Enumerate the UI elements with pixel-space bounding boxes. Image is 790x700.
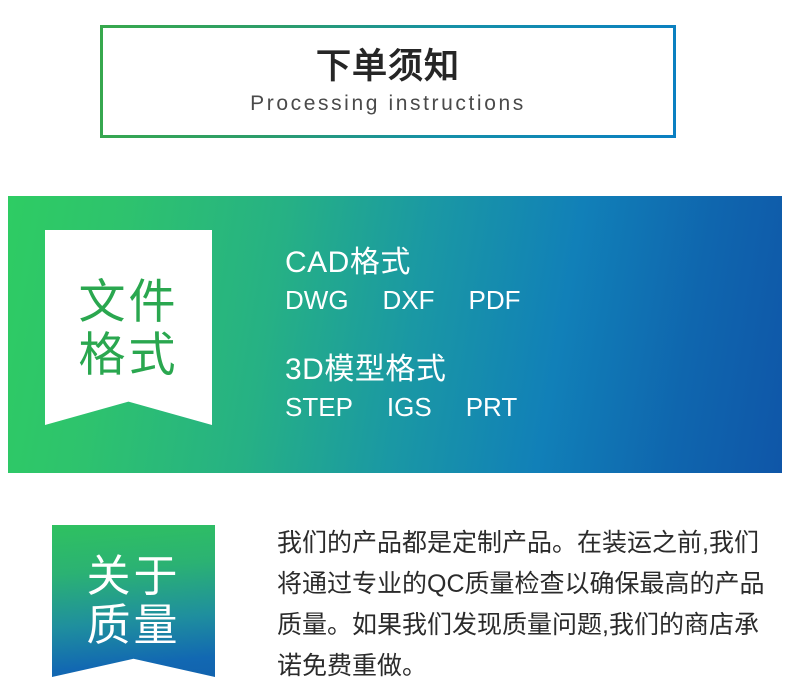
file-formats-ribbon: 文件 格式 (45, 230, 212, 425)
format-group-3d-heading: 3D模型格式 (285, 351, 521, 389)
format-item: PDF (469, 284, 521, 318)
format-group-cad: CAD格式 DWG DXF PDF (285, 244, 521, 317)
ribbon-label-line1: 关于 (87, 555, 181, 599)
ribbon-label-line2: 格式 (79, 331, 179, 378)
ribbon-label-line2: 质量 (87, 604, 181, 648)
format-group-3d: 3D模型格式 STEP IGS PRT (285, 351, 521, 424)
format-group-cad-list: DWG DXF PDF (285, 284, 521, 318)
page-header-box: 下单须知 Processing instructions (100, 25, 676, 138)
format-item: STEP (285, 391, 353, 425)
format-item: DXF (383, 284, 435, 318)
file-formats-banner: 文件 格式 CAD格式 DWG DXF PDF 3D模型格式 STEP IGS … (8, 196, 782, 473)
format-item: PRT (466, 391, 518, 425)
format-item: DWG (285, 284, 349, 318)
file-formats-content: CAD格式 DWG DXF PDF 3D模型格式 STEP IGS PRT (285, 244, 521, 425)
format-item: IGS (387, 391, 432, 425)
quality-ribbon: 关于 质量 (52, 525, 215, 677)
ribbon-label-line1: 文件 (79, 278, 179, 325)
format-group-3d-list: STEP IGS PRT (285, 391, 521, 425)
page-subtitle: Processing instructions (250, 91, 526, 116)
quality-body-text: 我们的产品都是定制产品。在装运之前,我们将通过专业的QC质量检查以确保最高的产品… (277, 523, 777, 687)
page-title: 下单须知 (316, 47, 460, 86)
format-group-cad-heading: CAD格式 (285, 244, 521, 282)
